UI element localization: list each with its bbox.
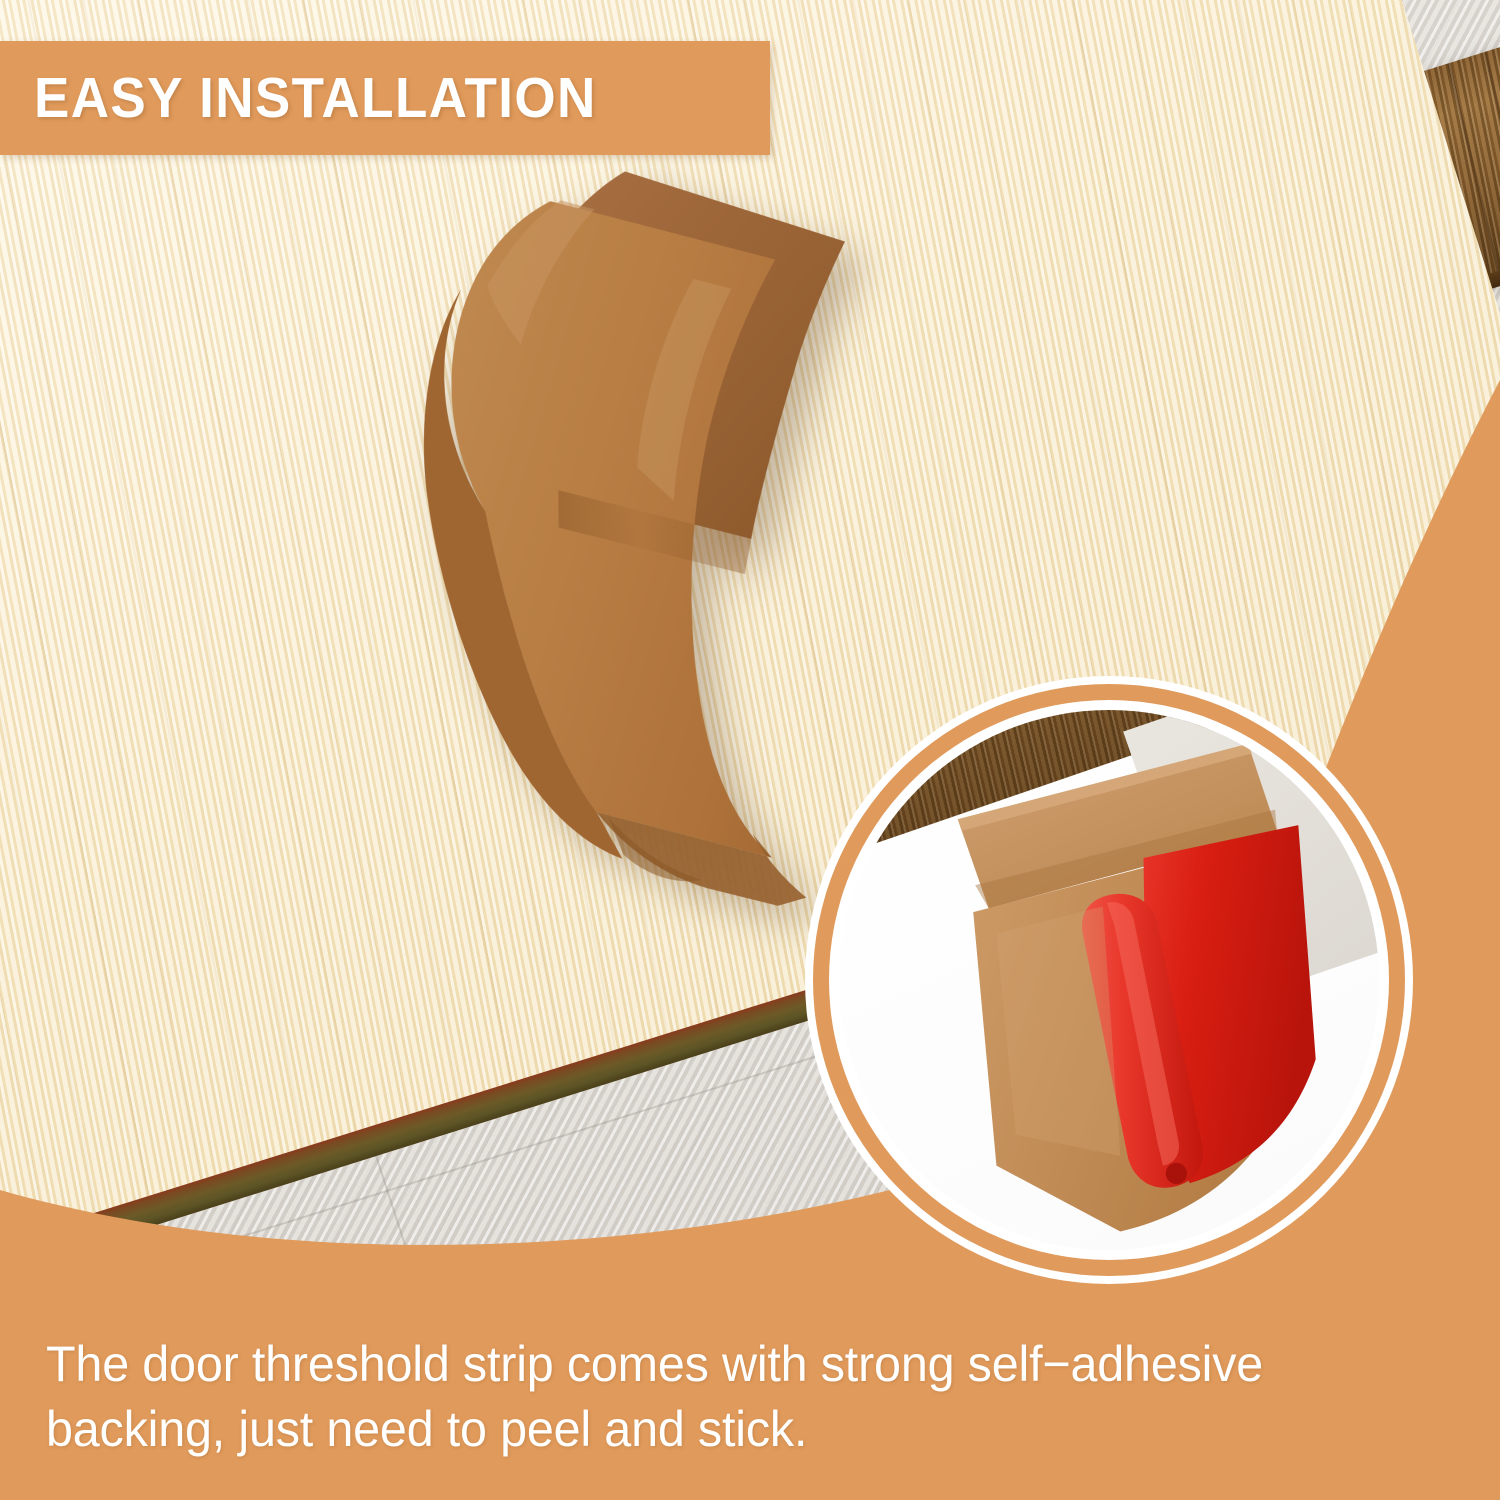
easy-installation-banner: EASY INSTALLATION xyxy=(0,41,770,155)
caption-text: The door threshold strip comes with stro… xyxy=(46,1332,1423,1462)
product-marketing-image: EASY INSTALLATION xyxy=(0,0,1500,1500)
page-title: EASY INSTALLATION xyxy=(34,65,597,131)
inset-seal-strip-with-liner xyxy=(861,742,1325,1250)
inset-photo xyxy=(839,710,1379,1250)
circular-detail-inset xyxy=(805,676,1413,1284)
